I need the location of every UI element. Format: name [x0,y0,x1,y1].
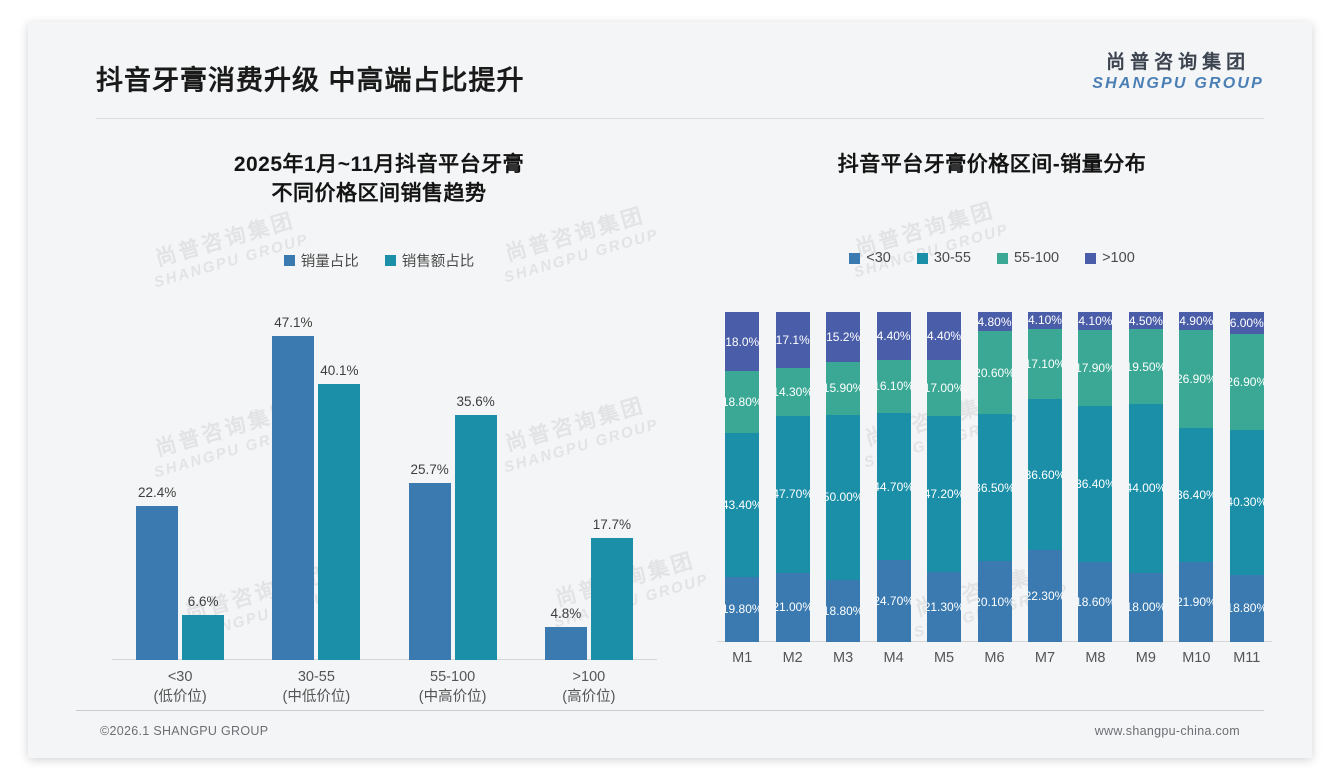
brand-logo: 尚普咨询集团 SHANGPU GROUP [1092,52,1264,94]
segment-value-label: 17.10% [1028,357,1062,371]
segment-value-label: 4.90% [1179,314,1213,328]
stacked-bar-segment[interactable]: 4.80% [978,312,1012,331]
x-axis-tick-label: M1 [717,650,767,666]
footer-copyright: ©2026.1 SHANGPU GROUP [100,724,268,738]
legend-swatch-icon [849,253,860,264]
stacked-bar-segment[interactable]: 43.40% [725,433,759,576]
legend-swatch-icon [997,253,1008,264]
page-title: 抖音牙膏消费升级 中高端占比提升 [96,59,525,98]
stacked-bar-segment[interactable]: 40.30% [1230,430,1264,575]
segment-value-label: 20.10% [978,595,1012,609]
right-chart-legend-item-1[interactable]: 30-55 [917,250,971,266]
stacked-bar-segment[interactable]: 21.00% [776,573,810,642]
left-chart-legend: 销量占比销售额占比 [74,250,684,271]
stacked-bar-segment[interactable]: 26.90% [1230,334,1264,430]
stacked-bar-segment[interactable]: 22.30% [1028,550,1062,642]
bar-value-label: 4.8% [550,606,581,621]
stacked-bar-segment[interactable]: 19.80% [725,577,759,642]
left-chart-title: 2025年1月~11月抖音平台牙膏 不同价格区间销售趋势 [74,150,684,208]
x-axis-tick-label: M2 [767,650,817,666]
stacked-bar-segment[interactable]: 18.0% [725,312,759,371]
stacked-bar[interactable]: 18.0%18.80%43.40%19.80% [725,312,759,642]
logo-chinese-text: 尚普咨询集团 [1092,52,1264,74]
x-axis-tick-label: M8 [1070,650,1120,666]
stacked-bar-segment[interactable]: 18.80% [1230,575,1264,642]
right-chart-legend: <3030-5555-100>100 [692,250,1292,266]
segment-value-label: 26.90% [1230,375,1264,389]
x-axis-tick-label: 55-100 [385,667,521,687]
x-axis-tick: 30-55(中低价位) [248,667,384,707]
segment-value-label: 26.90% [1179,372,1213,386]
stacked-bar-segment[interactable]: 15.2% [826,312,860,362]
stacked-bar-segment[interactable]: 36.50% [978,414,1012,561]
bar-value-label: 47.1% [274,315,312,330]
x-axis-tick-label: M5 [919,650,969,666]
segment-value-label: 20.60% [978,366,1012,380]
left-chart-panel: 2025年1月~11月抖音平台牙膏 不同价格区间销售趋势 销量占比销售额占比 2… [74,132,684,712]
segment-value-label: 15.90% [826,381,860,395]
bar-rect[interactable] [318,384,360,660]
segment-value-label: 16.10% [877,379,911,393]
header-divider [96,118,1264,119]
stacked-bar-segment[interactable]: 15.90% [826,362,860,415]
stacked-bar-segment[interactable]: 4.40% [927,312,961,360]
stacked-bar[interactable]: 4.10%17.10%36.60%22.30% [1028,312,1062,642]
segment-value-label: 22.30% [1028,589,1062,603]
segment-value-label: 17.1% [776,333,810,347]
bar-rect[interactable] [545,627,587,660]
legend-label: <30 [866,250,891,266]
segment-value-label: 4.40% [877,329,911,343]
stacked-bar-segment[interactable]: 36.60% [1028,399,1062,550]
x-axis-tick-label: M6 [969,650,1019,666]
segment-value-label: 40.30% [1230,495,1264,509]
left-chart-title-line1: 2025年1月~11月抖音平台牙膏 [74,150,684,179]
segment-value-label: 21.00% [776,600,810,614]
stacked-bar-segment[interactable]: 44.70% [877,413,911,561]
bar-value-label: 17.7% [593,517,631,532]
bar-item[interactable]: 40.1% [318,302,360,660]
stacked-bar[interactable]: 17.1%14.30%47.70%21.00% [776,312,810,642]
segment-value-label: 18.60% [1078,595,1112,609]
bar-group: 4.8%17.7% [521,302,657,660]
segment-value-label: 4.10% [1028,313,1062,327]
segment-value-label: 6.00% [1230,316,1264,330]
right-chart-legend-item-0[interactable]: <30 [849,250,891,266]
segment-value-label: 36.50% [978,481,1012,495]
segment-value-label: 43.40% [725,498,759,512]
bar-value-label: 22.4% [138,485,176,500]
legend-swatch-icon [917,253,928,264]
bar-group: 22.4%6.6% [112,302,248,660]
segment-value-label: 44.70% [877,480,911,494]
x-axis-tick-label: M11 [1222,650,1272,666]
bar-value-label: 35.6% [456,394,494,409]
bar-item[interactable]: 25.7% [409,302,451,660]
stacked-bar-segment[interactable]: 4.40% [877,312,911,360]
stacked-bar-segment[interactable]: 21.90% [1179,562,1213,642]
stacked-bar-segment[interactable]: 20.10% [978,561,1012,642]
stacked-bar-segment[interactable]: 50.00% [826,415,860,580]
footer-website: www.shangpu-china.com [1095,724,1240,738]
stacked-bar[interactable]: 4.10%17.90%36.40%18.60% [1078,312,1112,642]
legend-swatch-icon [284,255,295,266]
left-chart-legend-item-0[interactable]: 销量占比 [284,250,359,271]
stacked-bar-segment[interactable]: 17.10% [1028,329,1062,399]
bar-value-label: 40.1% [320,363,358,378]
segment-value-label: 21.30% [927,600,961,614]
segment-value-label: 50.00% [826,490,860,504]
segment-value-label: 18.80% [725,395,759,409]
segment-value-label: 36.40% [1078,477,1112,491]
right-chart-legend-item-2[interactable]: 55-100 [997,250,1059,266]
stacked-bar[interactable]: 15.2%15.90%50.00%18.80% [826,312,860,642]
stacked-bar-segment[interactable]: 20.60% [978,331,1012,414]
stacked-bar-segment[interactable]: 6.00% [1230,312,1264,334]
bar-group: 25.7%35.6% [385,302,521,660]
segment-value-label: 15.2% [826,330,860,344]
stacked-bar-segment[interactable]: 4.10% [1028,312,1062,329]
slide: 抖音牙膏消费升级 中高端占比提升 尚普咨询集团 SHANGPU GROUP 尚普… [28,22,1312,758]
x-axis-tick-sublabel: (高价位) [521,687,657,707]
segment-value-label: 24.70% [877,594,911,608]
stacked-bar-segment[interactable]: 18.60% [1078,562,1112,642]
x-axis-tick-sublabel: (低价位) [112,687,248,707]
right-chart-x-axis-labels: M1M2M3M4M5M6M7M8M9M10M11 [717,650,1272,680]
stacked-bar-segment[interactable]: 18.00% [1129,573,1163,642]
footer-divider [76,710,1264,711]
segment-value-label: 17.00% [927,381,961,395]
x-axis-tick-label: M9 [1121,650,1171,666]
bar-value-label: 6.6% [188,594,219,609]
segment-value-label: 4.40% [927,329,961,343]
segment-value-label: 17.90% [1078,361,1112,375]
logo-english-text: SHANGPU GROUP [1092,74,1264,94]
bar-group: 47.1%40.1% [248,302,384,660]
segment-value-label: 4.10% [1078,314,1112,328]
segment-value-label: 47.70% [776,487,810,501]
stacked-bar[interactable]: 4.40%16.10%44.70%24.70% [877,312,911,642]
left-chart-legend-item-1[interactable]: 销售额占比 [385,250,475,271]
stacked-bar-segment[interactable]: 21.30% [927,572,961,642]
bar-value-label: 25.7% [410,462,448,477]
bar-rect[interactable] [409,483,451,660]
stacked-bar-segment[interactable]: 18.80% [826,580,860,642]
stacked-bar-segment[interactable]: 17.1% [776,312,810,368]
right-chart-plot: 18.0%18.80%43.40%19.80%17.1%14.30%47.70%… [717,312,1272,642]
stacked-bar-segment[interactable]: 36.40% [1179,428,1213,561]
right-chart-title: 抖音平台牙膏价格区间-销量分布 [692,150,1292,179]
right-chart-legend-item-3[interactable]: >100 [1085,250,1135,266]
legend-label: >100 [1102,250,1135,266]
x-axis-tick-sublabel: (中低价位) [248,687,384,707]
stacked-bar-segment[interactable]: 47.70% [776,416,810,573]
x-axis-tick: >100(高价位) [521,667,657,707]
stacked-bar-segment[interactable]: 47.20% [927,416,961,572]
x-axis-tick-label: <30 [112,667,248,687]
segment-value-label: 44.00% [1129,481,1163,495]
stacked-bar-segment[interactable]: 14.30% [776,368,810,415]
left-chart-title-line2: 不同价格区间销售趋势 [74,179,684,208]
stacked-bar-segment[interactable]: 19.50% [1129,329,1163,404]
bar-rect[interactable] [455,415,497,660]
x-axis-tick-label: >100 [521,667,657,687]
left-chart-plot: 22.4%6.6%47.1%40.1%25.7%35.6%4.8%17.7% [112,302,657,660]
bar-rect[interactable] [136,506,178,660]
x-axis-tick-label: M10 [1171,650,1221,666]
segment-value-label: 36.40% [1179,488,1213,502]
stacked-bar-segment[interactable]: 17.00% [927,360,961,416]
stacked-bar[interactable]: 4.50%19.50%44.00%18.00% [1129,312,1163,642]
legend-label: 销量占比 [301,250,359,271]
bar-rect[interactable] [182,615,224,660]
stacked-bar-segment[interactable]: 4.50% [1129,312,1163,329]
legend-swatch-icon [1085,253,1096,264]
segment-value-label: 18.80% [826,604,860,618]
segment-value-label: 19.80% [725,602,759,616]
stacked-bar-segment[interactable]: 4.10% [1078,312,1112,330]
x-axis-tick-label: M4 [868,650,918,666]
bar-rect[interactable] [591,538,633,660]
stacked-bar-segment[interactable]: 18.80% [725,371,759,433]
bar-item[interactable]: 35.6% [455,302,497,660]
segment-value-label: 19.50% [1129,360,1163,374]
stacked-bar-segment[interactable]: 16.10% [877,360,911,413]
x-axis-tick: <30(低价位) [112,667,248,707]
x-axis-tick-sublabel: (中高价位) [385,687,521,707]
stacked-bar[interactable]: 4.90%26.90%36.40%21.90% [1179,312,1213,642]
legend-label: 销售额占比 [402,250,475,271]
segment-value-label: 18.00% [1129,600,1163,614]
left-chart-x-axis-labels: <30(低价位)30-55(中低价位)55-100(中高价位)>100(高价位) [112,667,657,719]
stacked-bar[interactable]: 6.00%26.90%40.30%18.80% [1230,312,1264,642]
bar-item[interactable]: 17.7% [591,302,633,660]
segment-value-label: 4.80% [978,315,1012,329]
slide-header: 抖音牙膏消费升级 中高端占比提升 尚普咨询集团 SHANGPU GROUP [28,22,1312,118]
legend-swatch-icon [385,255,396,266]
x-axis-tick-label: M3 [818,650,868,666]
stacked-bar-segment[interactable]: 24.70% [877,560,911,642]
bar-item[interactable]: 47.1% [272,302,314,660]
segment-value-label: 14.30% [776,385,810,399]
bar-rect[interactable] [272,336,314,660]
stacked-bar-segment[interactable]: 36.40% [1078,406,1112,562]
bar-item[interactable]: 22.4% [136,302,178,660]
segment-value-label: 36.60% [1028,468,1062,482]
x-axis-tick: 55-100(中高价位) [385,667,521,707]
segment-value-label: 47.20% [927,487,961,501]
segment-value-label: 18.0% [725,335,759,349]
stacked-bar-segment[interactable]: 44.00% [1129,404,1163,573]
stacked-bar[interactable]: 4.80%20.60%36.50%20.10% [978,312,1012,642]
segment-value-label: 18.80% [1230,601,1264,615]
x-axis-tick-label: M7 [1020,650,1070,666]
legend-label: 55-100 [1014,250,1059,266]
stacked-bar-segment[interactable]: 4.90% [1179,312,1213,330]
stacked-bar-segment[interactable]: 17.90% [1078,330,1112,407]
legend-label: 30-55 [934,250,971,266]
bar-item[interactable]: 4.8% [545,302,587,660]
x-axis-tick-label: 30-55 [248,667,384,687]
segment-value-label: 4.50% [1129,314,1163,328]
stacked-bar-segment[interactable]: 26.90% [1179,330,1213,429]
bar-item[interactable]: 6.6% [182,302,224,660]
stacked-bar[interactable]: 4.40%17.00%47.20%21.30% [927,312,961,642]
right-chart-panel: 抖音平台牙膏价格区间-销量分布 <3030-5555-100>100 18.0%… [692,132,1292,712]
segment-value-label: 21.90% [1179,595,1213,609]
